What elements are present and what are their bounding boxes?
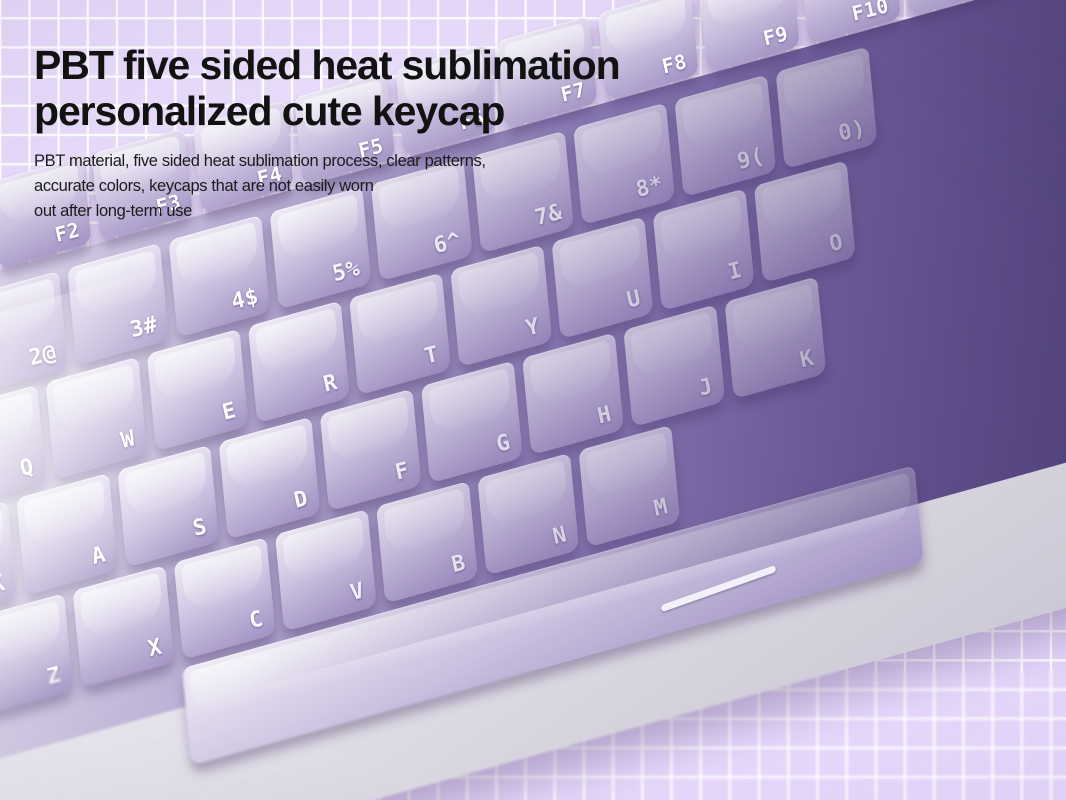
- keycap-z: Z: [0, 593, 73, 716]
- keycap-2: 2@: [0, 271, 68, 394]
- keycap-legend: W: [119, 428, 137, 453]
- keycap-d: D: [219, 417, 321, 540]
- keycap-legend: F: [394, 460, 412, 485]
- keycap-legend: N: [551, 524, 569, 549]
- keycap-m: M: [579, 425, 681, 548]
- keycap-n: N: [477, 453, 579, 576]
- marketing-copy-block: PBT five sided heat sublimation personal…: [34, 42, 694, 224]
- keycap-legend: S: [191, 516, 209, 541]
- keycap-legend: O: [828, 231, 846, 256]
- keycap-legend: X: [146, 636, 164, 661]
- keycap-legend: 4$: [229, 286, 260, 314]
- keycap-a: A: [16, 473, 118, 596]
- keycap-q: Q: [0, 385, 46, 508]
- keycap-legend: G: [495, 432, 513, 457]
- keycap-legend: V: [349, 580, 367, 605]
- keycap-legend: A: [90, 544, 108, 569]
- keycap-u: U: [552, 216, 654, 339]
- page-title: PBT five sided heat sublimation personal…: [34, 42, 694, 135]
- keycap-legend: B: [450, 552, 468, 577]
- keycap-legend: F9: [761, 23, 790, 49]
- keycap-legend: F10: [850, 0, 891, 24]
- keycap-legend: H: [596, 404, 614, 429]
- keycap-j: J: [623, 304, 725, 427]
- keycap-legend: 6^: [431, 230, 462, 258]
- keycap-x: X: [73, 565, 175, 688]
- product-description: PBT material, five sided heat sublimatio…: [34, 149, 694, 224]
- keycap-o: O: [754, 160, 856, 283]
- keycap-legend: 2@: [27, 342, 58, 370]
- keycap-legend: Q: [18, 456, 36, 481]
- keycap-legend: 0): [836, 118, 867, 146]
- keycap-legend: 3#: [128, 314, 159, 342]
- keycap-legend: Y: [524, 316, 542, 341]
- keycap-legend: I: [727, 260, 745, 285]
- keycap-legend: U: [625, 288, 643, 313]
- keycap-legend: M: [652, 496, 670, 521]
- keycap-r: R: [248, 301, 350, 424]
- keycap-f9: F9: [699, 0, 800, 72]
- keycap-w: W: [46, 357, 148, 480]
- keycap-g: G: [421, 361, 523, 484]
- keycap-legend: J: [697, 376, 715, 401]
- keycap-v: V: [275, 509, 377, 632]
- keycap-0: 0): [776, 46, 878, 169]
- keycap-c: C: [174, 537, 276, 660]
- keycap-legend: E: [221, 400, 239, 425]
- keycap-legend: C: [248, 608, 266, 633]
- keycap-legend: 9(: [735, 146, 766, 174]
- keycap-f11: F11: [901, 0, 1002, 16]
- keycap-b: B: [376, 481, 478, 604]
- product-banner: ESC F1 F2 F3 F4 F5 F6 F7 F8 F9 F10 F11 `…: [0, 0, 1066, 800]
- keycap-s: S: [117, 445, 219, 568]
- keycap-legend: K: [798, 348, 816, 373]
- keycap-3: 3#: [67, 243, 169, 366]
- keycap-h: H: [522, 333, 624, 456]
- keycap-k: K: [725, 276, 827, 399]
- keycap-legend: Z: [45, 664, 63, 689]
- keycap-t: T: [349, 273, 451, 396]
- keycap-y: Y: [450, 245, 552, 368]
- keycap-f: F: [320, 389, 422, 512]
- keycap-e: E: [147, 329, 249, 452]
- keycap-legend: 5%: [330, 258, 361, 286]
- keycap-f10: F10: [800, 0, 901, 44]
- keycap-legend: SPACE: [910, 558, 912, 559]
- keycap-legend: D: [292, 488, 310, 513]
- keycap-legend: T: [423, 344, 441, 369]
- keycap-legend: R: [322, 372, 340, 397]
- keycap-4: 4$: [168, 215, 270, 338]
